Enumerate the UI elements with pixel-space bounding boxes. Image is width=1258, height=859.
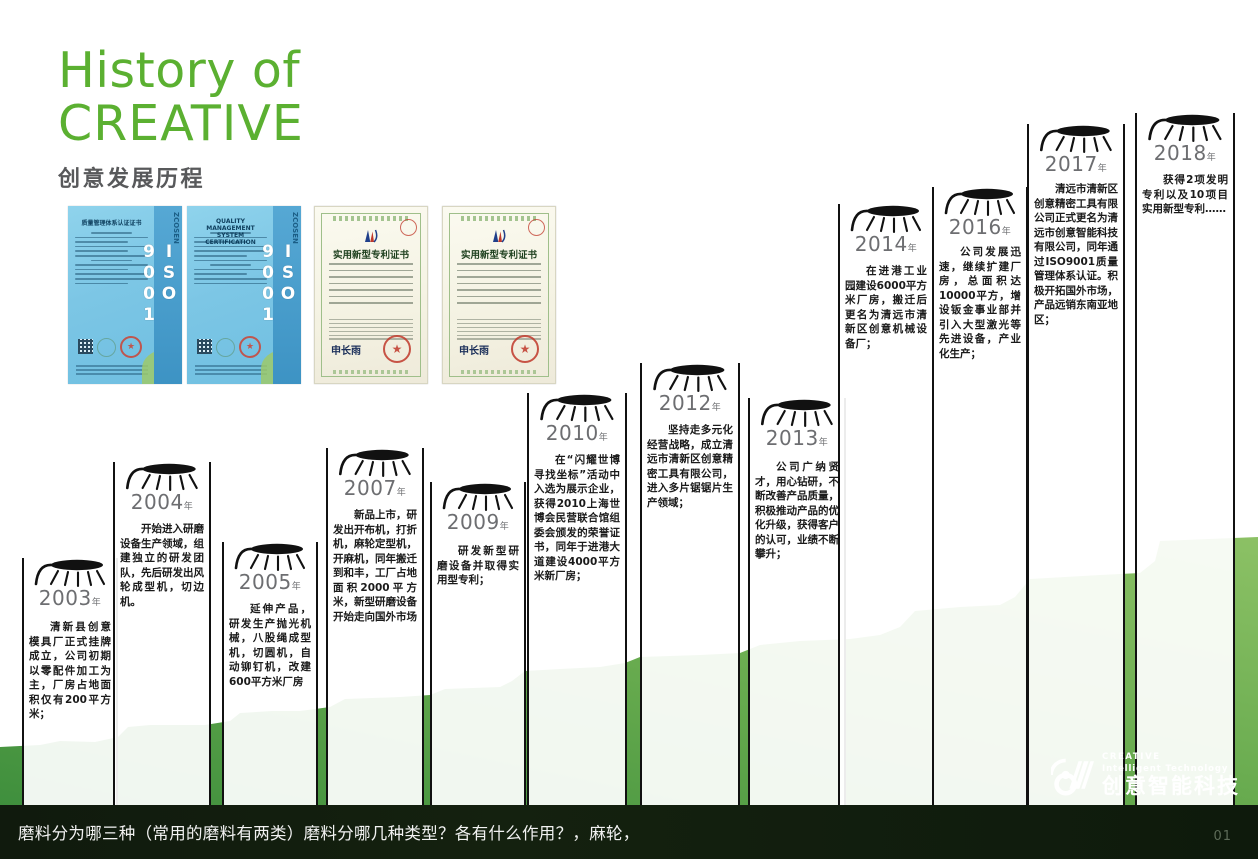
timeline-year-number: 2014 xyxy=(855,232,908,256)
timeline-year-number: 2017 xyxy=(1045,152,1098,176)
lamp-head xyxy=(527,393,627,419)
top-ornament xyxy=(333,216,409,221)
timeline-description: 坚持走多元化经营战略，成立清远市清新区创意精密工具有限公司，进入多片锯锯片生产领… xyxy=(647,423,733,510)
timeline-item-2012[interactable]: 2012年坚持走多元化经营战略，成立清远市清新区创意精密工具有限公司，进入多片锯… xyxy=(640,363,740,814)
timeline-year-suffix: 年 xyxy=(500,522,510,532)
lamp-head-icon xyxy=(838,204,934,234)
bottom-ornament xyxy=(461,370,537,374)
certificate-footer-lines xyxy=(195,365,267,377)
lamp-head-icon xyxy=(932,187,1028,217)
company-logo: CREATIVE Intelligent Technology 创意智能科技 xyxy=(1051,753,1240,797)
timeline-year-suffix: 年 xyxy=(184,502,194,512)
lamp-head xyxy=(22,558,118,584)
page-header: History of CREATIVE 创意发展历程 xyxy=(58,44,478,193)
timeline-year-suffix: 年 xyxy=(908,244,918,254)
lamp-head-icon xyxy=(1135,113,1235,143)
timeline-item-2005[interactable]: 2005年延伸产品，研发生产抛光机械，八股绳成型机，切圆机，自动铆钉机，改建60… xyxy=(222,542,318,814)
timeline-item-2016[interactable]: 2016年公司发展迅速，继续扩建厂房，总面积达10000平方，增设钣金事业部并引… xyxy=(932,187,1028,814)
timeline-year-suffix: 年 xyxy=(599,433,609,443)
timeline-year-suffix: 年 xyxy=(397,488,407,498)
certifier-logo: ZCOSEN xyxy=(172,212,180,244)
certificate-body-lines xyxy=(457,263,541,309)
certificate-heading: 实用新型专利证书 xyxy=(315,247,427,261)
timeline-year-number: 2009 xyxy=(447,510,500,534)
lamp-head xyxy=(113,462,211,488)
lamp-post-body xyxy=(1135,113,1235,814)
bottom-ornament xyxy=(333,370,409,374)
timeline-year: 2012年 xyxy=(640,391,740,415)
caption-bar: 磨料分为哪三种（常用的磨料有两类）磨料分哪几种类型？各有什么作用？，麻轮， xyxy=(0,805,1258,859)
timeline-year: 2017年 xyxy=(1027,152,1125,176)
patent-emblem-icon xyxy=(490,227,508,245)
patent-emblem-icon xyxy=(362,227,380,245)
timeline-description: 新品上市，研发出开布机，打折机，麻轮定型机，开麻机，同年搬迁到和丰，工厂占地面积… xyxy=(333,508,417,624)
top-ornament xyxy=(461,216,537,221)
logo-line-1: CREATIVE xyxy=(1102,753,1240,762)
lamp-head-icon xyxy=(113,462,211,492)
lamp-head-icon xyxy=(748,398,846,428)
timeline-year-number: 2007 xyxy=(344,476,397,500)
page-number: 01 xyxy=(1213,829,1232,844)
lamp-head-icon xyxy=(430,482,526,512)
timeline-year: 2013年 xyxy=(748,426,846,450)
timeline-year: 2007年 xyxy=(326,476,424,500)
timeline-item-2010[interactable]: 2010年在“闪耀世博 寻找坐标”活动中入选为展示企业，获得2010上海世博会民… xyxy=(527,393,627,814)
timeline-year-number: 2010 xyxy=(546,421,599,445)
page-title: History of CREATIVE xyxy=(58,44,478,150)
logo-line-3: 创意智能科技 xyxy=(1102,776,1240,797)
qr-code-icon xyxy=(78,339,93,354)
iso-label: ISO 9001 xyxy=(276,242,298,384)
lamp-head xyxy=(430,482,526,508)
lamp-head-icon xyxy=(1027,124,1125,154)
certificate-footer-lines xyxy=(76,365,148,377)
title-line-2: CREATIVE xyxy=(58,97,478,150)
timeline-year-number: 2003 xyxy=(39,586,92,610)
timeline-year-suffix: 年 xyxy=(1207,153,1217,163)
timeline-year: 2010年 xyxy=(527,421,627,445)
timeline-year-number: 2018 xyxy=(1154,141,1207,165)
timeline-item-2004[interactable]: 2004年开始进入研磨设备生产领域，组建独立的研发团队，先后研发出风轮成型机，切… xyxy=(113,462,211,814)
timeline-year: 2003年 xyxy=(22,586,118,610)
lamp-head-icon xyxy=(527,393,627,423)
timeline-year-suffix: 年 xyxy=(712,403,722,413)
certificate-iso-9001-cn[interactable]: 质量管理体系认证证书 ZCOSEN ISO 9001 xyxy=(68,206,182,384)
timeline-year-suffix: 年 xyxy=(819,438,829,448)
timeline-item-2017[interactable]: 2017年清远市清新区创意精密工具有限公司正式更名为清远市创意智能科技有限公司，… xyxy=(1027,124,1125,814)
timeline-item-2009[interactable]: 2009年研发新型研磨设备并取得实用型专利； xyxy=(430,482,526,814)
timeline-year-suffix: 年 xyxy=(92,598,102,608)
timeline-year: 2009年 xyxy=(430,510,526,534)
corner-seal-icon xyxy=(400,219,417,236)
timeline-description: 开始进入研磨设备生产领域，组建独立的研发团队，先后研发出风轮成型机，切边机。 xyxy=(120,522,204,609)
timeline-year-suffix: 年 xyxy=(292,582,302,592)
timeline-year-suffix: 年 xyxy=(1002,227,1012,237)
certificate-body-lines xyxy=(329,263,413,309)
official-seal-icon xyxy=(511,335,539,363)
secondary-seal-icon xyxy=(97,338,116,357)
lamp-head-icon xyxy=(222,542,318,572)
timeline-description: 清新县创意模具厂正式挂牌成立，公司初期以零配件加工为主，厂房占地面积仅有200平… xyxy=(29,620,111,722)
timeline-description: 公司广纳贤才，用心钻研，不断改善产品质量，积极推动产品的优化升级，获得客户的认可… xyxy=(755,460,839,562)
lamp-post-body xyxy=(113,462,211,814)
certificate-patent-1[interactable]: 实用新型专利证书 申长雨 xyxy=(314,206,428,384)
official-seal-icon xyxy=(383,335,411,363)
timeline-year-number: 2012 xyxy=(659,391,712,415)
timeline-item-2003[interactable]: 2003年清新县创意模具厂正式挂牌成立，公司初期以零配件加工为主，厂房占地面积仅… xyxy=(22,558,118,814)
lamp-head xyxy=(640,363,740,389)
lamp-post-body xyxy=(326,448,424,814)
certificate-iso-9001-en[interactable]: QUALITY MANAGEMENT SYSTEM CERTIFICATION … xyxy=(187,206,301,384)
lamp-head-icon xyxy=(22,558,118,588)
lamp-head-icon xyxy=(640,363,740,393)
timeline-year-number: 2016 xyxy=(949,215,1002,239)
iso-label: ISO 9001 xyxy=(157,242,179,384)
timeline-description: 公司发展迅速，继续扩建厂房，总面积达10000平方，增设钣金事业部并引入大型激光… xyxy=(939,245,1021,361)
signature: 申长雨 xyxy=(459,342,489,357)
certificate-gallery: 质量管理体系认证证书 ZCOSEN ISO 9001 QUALITY MANAG… xyxy=(68,206,556,384)
lamp-head xyxy=(222,542,318,568)
timeline-item-2013[interactable]: 2013年公司广纳贤才，用心钻研，不断改善产品质量，积极推动产品的优化升级，获得… xyxy=(748,398,846,814)
lamp-head-icon xyxy=(326,448,424,478)
lamp-head xyxy=(748,398,846,424)
lamp-head xyxy=(932,187,1028,213)
corner-seal-icon xyxy=(528,219,545,236)
timeline-item-2018[interactable]: 2018年获得2项发明专利以及10项目实用新型专利…… xyxy=(1135,113,1235,814)
timeline-description: 研发新型研磨设备并取得实用型专利； xyxy=(437,544,519,588)
timeline-description: 在进港工业园建设6000平方米厂房，搬迁后更名为清远市清新区创意机械设备厂； xyxy=(845,264,927,351)
logo-line-2: Intelligent Technology xyxy=(1102,765,1240,774)
certificate-heading: 质量管理体系认证证书 xyxy=(75,218,148,227)
timeline-description: 清远市清新区创意精密工具有限公司正式更名为清远市创意智能科技有限公司，同年通过I… xyxy=(1034,182,1118,327)
certificate-heading: 实用新型专利证书 xyxy=(443,247,555,261)
timeline-year-suffix: 年 xyxy=(1098,164,1108,174)
lamp-head xyxy=(1027,124,1125,150)
timeline-year: 2014年 xyxy=(838,232,934,256)
title-line-1: History of xyxy=(58,42,300,99)
certificate-body-lines xyxy=(194,232,267,287)
timeline-year: 2004年 xyxy=(113,490,211,514)
caption-text: 磨料分为哪三种（常用的磨料有两类）磨料分哪几种类型？各有什么作用？，麻轮， xyxy=(0,820,640,844)
timeline-description: 在“闪耀世博 寻找坐标”活动中入选为展示企业，获得2010上海世博会民营联合馆组… xyxy=(534,453,620,584)
timeline-description: 获得2项发明专利以及10项目实用新型专利…… xyxy=(1142,173,1228,217)
timeline-year: 2016年 xyxy=(932,215,1028,239)
certifier-logo: ZCOSEN xyxy=(291,212,299,244)
creative-logo-icon xyxy=(1051,754,1095,796)
timeline-description: 延伸产品，研发生产抛光机械，八股绳成型机，切圆机，自动铆钉机，改建600平方米厂… xyxy=(229,602,311,689)
timeline-year-number: 2005 xyxy=(239,570,292,594)
secondary-seal-icon xyxy=(216,338,235,357)
certificate-body-lines xyxy=(75,232,148,287)
timeline-year-number: 2004 xyxy=(131,490,184,514)
certificate-patent-2[interactable]: 实用新型专利证书 申长雨 xyxy=(442,206,556,384)
official-seal-icon xyxy=(239,336,261,358)
timeline-year-number: 2013 xyxy=(766,426,819,450)
lamp-head xyxy=(838,204,934,230)
lamp-head xyxy=(1135,113,1235,139)
lamp-head xyxy=(326,448,424,474)
page-subtitle: 创意发展历程 xyxy=(58,161,478,193)
timeline-item-2014[interactable]: 2014年在进港工业园建设6000平方米厂房，搬迁后更名为清远市清新区创意机械设… xyxy=(838,204,934,814)
qr-code-icon xyxy=(197,339,212,354)
logo-text-block: CREATIVE Intelligent Technology 创意智能科技 xyxy=(1102,753,1240,797)
timeline-item-2007[interactable]: 2007年新品上市，研发出开布机，打折机，麻轮定型机，开麻机，同年搬迁到和丰，工… xyxy=(326,448,424,814)
timeline-year: 2018年 xyxy=(1135,141,1235,165)
signature: 申长雨 xyxy=(331,342,361,357)
official-seal-icon xyxy=(120,336,142,358)
slide-canvas: History of CREATIVE 创意发展历程 质量管理体系认证证书 ZC… xyxy=(0,0,1258,859)
timeline-year: 2005年 xyxy=(222,570,318,594)
